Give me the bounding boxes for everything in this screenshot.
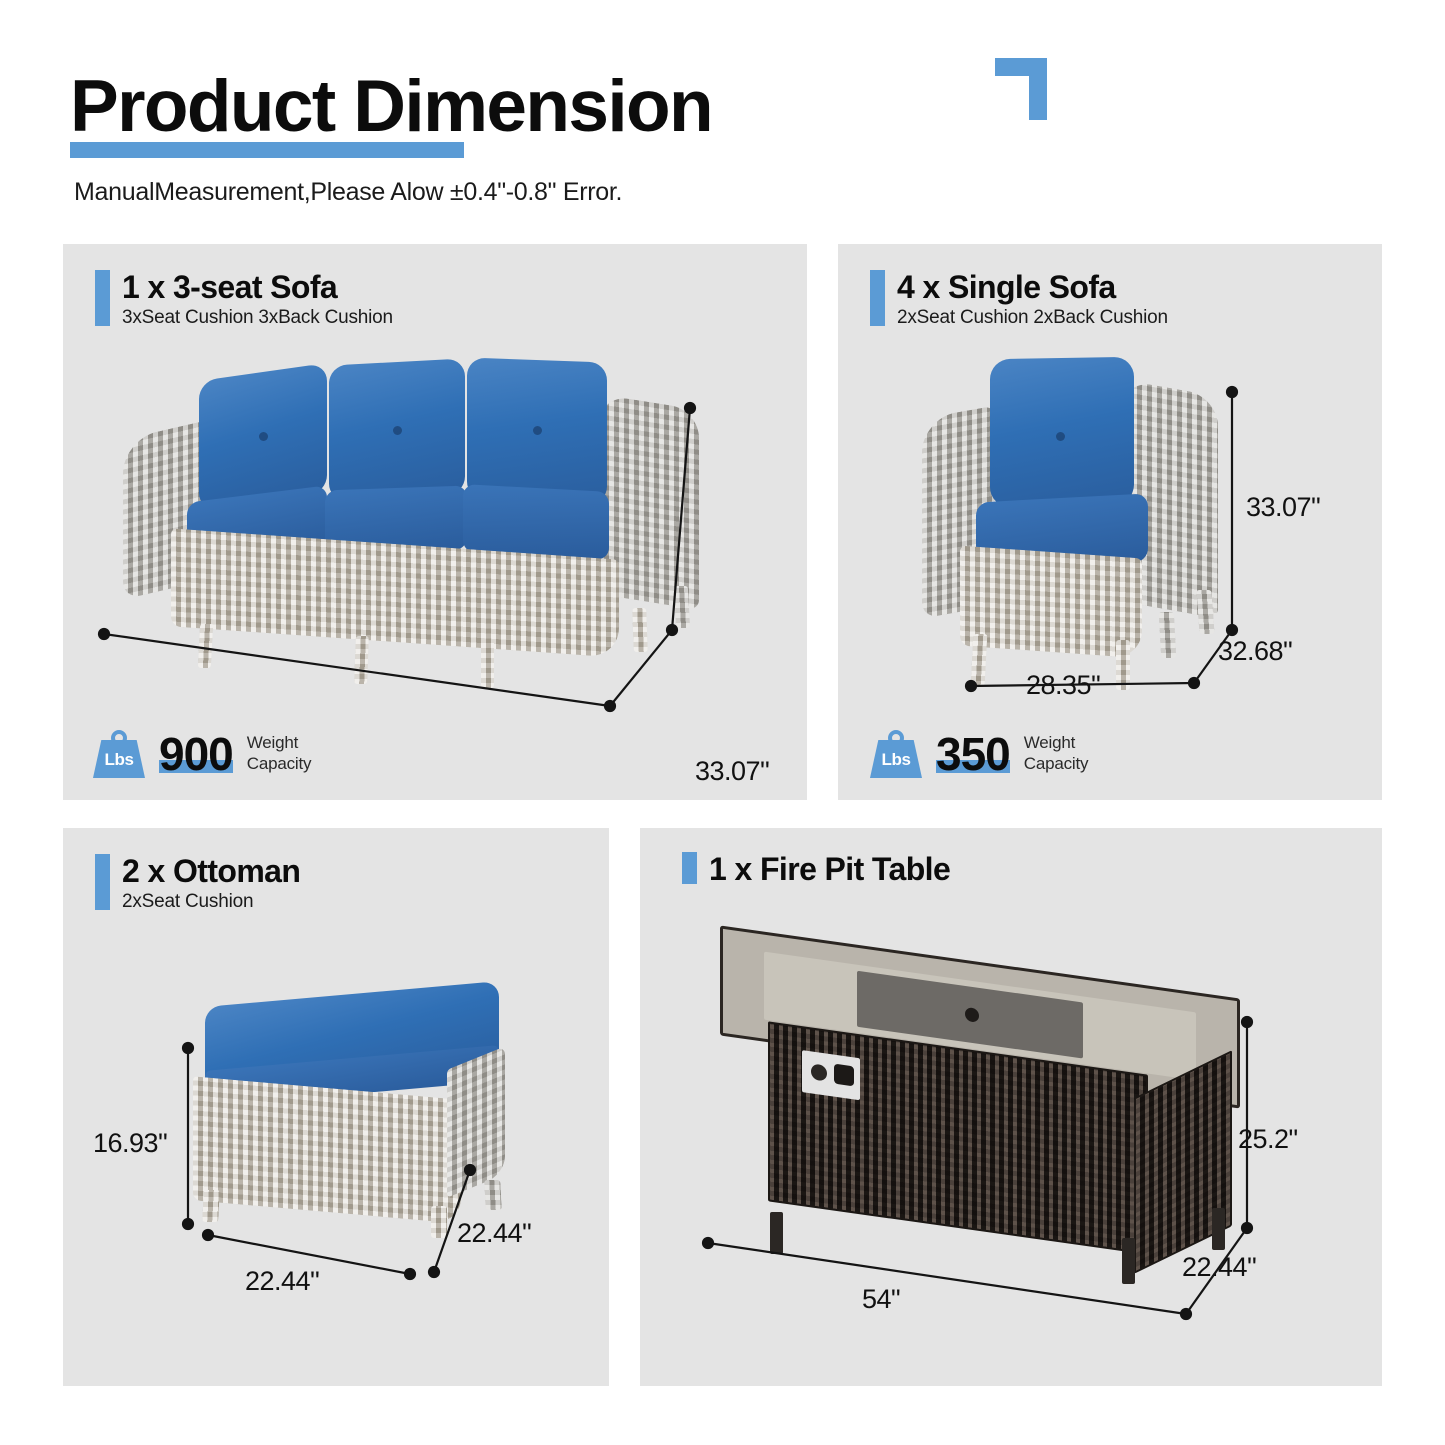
page-title: Product Dimension	[70, 70, 712, 143]
sofa-leg	[354, 636, 369, 684]
header: Product Dimension ManualMeasurement,Plea…	[0, 0, 1445, 230]
accent-bar-icon	[95, 854, 110, 910]
sofa-leg	[632, 608, 648, 652]
ottoman-side-weave	[447, 1046, 505, 1197]
weight-unit-label: Lbs	[104, 750, 133, 770]
dim-width-label: 22.44"	[245, 1266, 319, 1297]
measurement-note: ManualMeasurement,Please Alow ±0.4"-0.8"…	[74, 178, 622, 207]
dim-height-label: 33.07"	[695, 756, 769, 787]
sofa-illustration	[113, 354, 713, 684]
weight-body-icon: Lbs	[93, 740, 145, 778]
weight-capacity-label: Weight Capacity	[1024, 733, 1089, 774]
dim-depth-label: 22.44"	[1182, 1252, 1256, 1283]
ottoman-base-weave	[193, 1076, 461, 1223]
accent-bar-icon	[870, 270, 885, 326]
weight-label-line2: Capacity	[1024, 754, 1089, 775]
weight-value-wrap: 350	[936, 731, 1010, 777]
chair-leg	[971, 634, 988, 686]
accent-bar-icon	[682, 852, 697, 884]
accent-bar-icon	[95, 270, 110, 326]
weight-body-icon: Lbs	[870, 740, 922, 778]
chair-leg	[1116, 640, 1130, 690]
chair-leg	[1159, 612, 1176, 658]
table-leg	[1122, 1238, 1135, 1284]
weight-label-line2: Capacity	[247, 754, 312, 775]
panel-title: 4 x Single Sofa	[897, 270, 1168, 305]
dim-height-label: 25.2"	[1238, 1124, 1298, 1155]
weight-capacity-badge: Lbs 350 Weight Capacity	[870, 730, 1088, 778]
panel-subtitle: 2xSeat Cushion	[122, 891, 300, 913]
dim-depth-label: 22.44"	[457, 1218, 531, 1249]
control-panel	[802, 1050, 860, 1100]
panel-3-seat-sofa: 1 x 3-seat Sofa 3xSeat Cushion 3xBack Cu…	[63, 244, 807, 800]
sofa-seat-cushion	[463, 484, 609, 560]
tuft-button-icon	[533, 426, 542, 435]
dim-height-label: 16.93"	[93, 1128, 167, 1159]
sofa-leg	[674, 586, 690, 628]
table-leg	[770, 1212, 783, 1254]
weight-icon: Lbs	[870, 730, 922, 778]
panel-ottoman: 2 x Ottoman 2xSeat Cushion 16.93" 22.44"…	[63, 828, 609, 1386]
page-title-wrap: Product Dimension	[70, 70, 712, 143]
corner-bracket-icon	[995, 58, 1047, 120]
ottoman-leg	[484, 1180, 502, 1210]
tuft-button-icon	[393, 426, 402, 435]
panel-fire-pit-table: 1 x Fire Pit Table	[640, 828, 1382, 1386]
panel-subtitle: 2xSeat Cushion 2xBack Cushion	[897, 307, 1168, 329]
dim-height-label: 33.07"	[1246, 492, 1320, 523]
chair-base-weave	[960, 546, 1142, 659]
panel-header-ottoman: 2 x Ottoman 2xSeat Cushion	[95, 854, 300, 913]
panel-header-single-sofa: 4 x Single Sofa 2xSeat Cushion 2xBack Cu…	[870, 270, 1168, 329]
control-knob-icon[interactable]	[834, 1064, 854, 1087]
table-leg	[1212, 1208, 1225, 1250]
ottoman-leg	[431, 1206, 447, 1238]
dim-width-label: 28.35"	[1026, 670, 1100, 701]
panel-subtitle: 3xSeat Cushion 3xBack Cushion	[122, 307, 393, 329]
sofa-leg	[198, 624, 213, 668]
ottoman-leg	[202, 1190, 220, 1222]
panel-title: 1 x Fire Pit Table	[709, 852, 950, 887]
tuft-button-icon	[259, 432, 268, 441]
panel-header-fire-pit-table: 1 x Fire Pit Table	[682, 852, 950, 889]
weight-capacity-badge: Lbs 900 Weight Capacity	[93, 730, 311, 778]
dim-width-label: 54"	[862, 1284, 900, 1315]
panel-title: 1 x 3-seat Sofa	[122, 270, 393, 305]
dim-depth-label: 32.68"	[1218, 636, 1292, 667]
weight-value: 900	[159, 731, 233, 777]
weight-label-line1: Weight	[247, 733, 312, 754]
weight-icon: Lbs	[93, 730, 145, 778]
weight-unit-label: Lbs	[881, 750, 910, 770]
weight-label-line1: Weight	[1024, 733, 1089, 754]
panel-header-3-seat-sofa: 1 x 3-seat Sofa 3xSeat Cushion 3xBack Cu…	[95, 270, 393, 329]
panel-title: 2 x Ottoman	[122, 854, 300, 889]
single-sofa-illustration	[916, 352, 1246, 692]
panel-single-sofa: 4 x Single Sofa 2xSeat Cushion 2xBack Cu…	[838, 244, 1382, 800]
chair-leg	[1196, 590, 1214, 634]
weight-value-wrap: 900	[159, 731, 233, 777]
weight-value: 350	[936, 731, 1010, 777]
fire-pit-table-illustration	[710, 956, 1270, 1286]
tuft-button-icon	[1056, 432, 1065, 441]
sofa-leg	[481, 640, 494, 688]
product-dimension-infographic: Product Dimension ManualMeasurement,Plea…	[0, 0, 1445, 1445]
corner-bracket-vertical	[1029, 58, 1047, 120]
ignition-button-icon[interactable]	[811, 1063, 827, 1081]
weight-capacity-label: Weight Capacity	[247, 733, 312, 774]
